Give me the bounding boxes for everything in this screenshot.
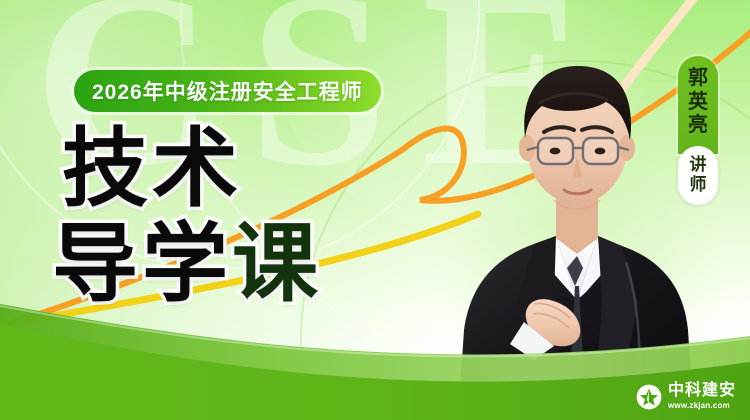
instructor-name-char: 英 — [688, 91, 708, 115]
brand-text: 中科建安 www.zkjan.com — [668, 383, 736, 410]
course-badge: 2026年中级注册安全工程师 — [74, 70, 381, 112]
instructor-role-char: 师 — [690, 175, 707, 195]
course-banner: CSE 2026年中级注册安全工程师 技术 导学课 — [0, 0, 750, 420]
instructor-badge: 郭 英 亮 讲 师 — [678, 56, 718, 205]
headline-line-1: 技术 — [62, 128, 322, 211]
instructor-role-char: 讲 — [690, 155, 707, 175]
instructor-name-char: 郭 — [688, 67, 708, 91]
instructor-role: 讲 师 — [678, 146, 718, 205]
brand-name: 中科建安 — [668, 383, 736, 399]
course-badge-label: 2026年中级注册安全工程师 — [92, 76, 363, 106]
brand-logo: 中科建安 www.zkjan.com — [636, 383, 736, 410]
star-arrow-icon — [636, 384, 662, 410]
brand-url: www.zkjan.com — [668, 402, 736, 410]
instructor-name-char: 亮 — [688, 114, 708, 138]
headline: 技术 导学课 — [62, 128, 322, 305]
instructor-name: 郭 英 亮 — [678, 56, 718, 154]
